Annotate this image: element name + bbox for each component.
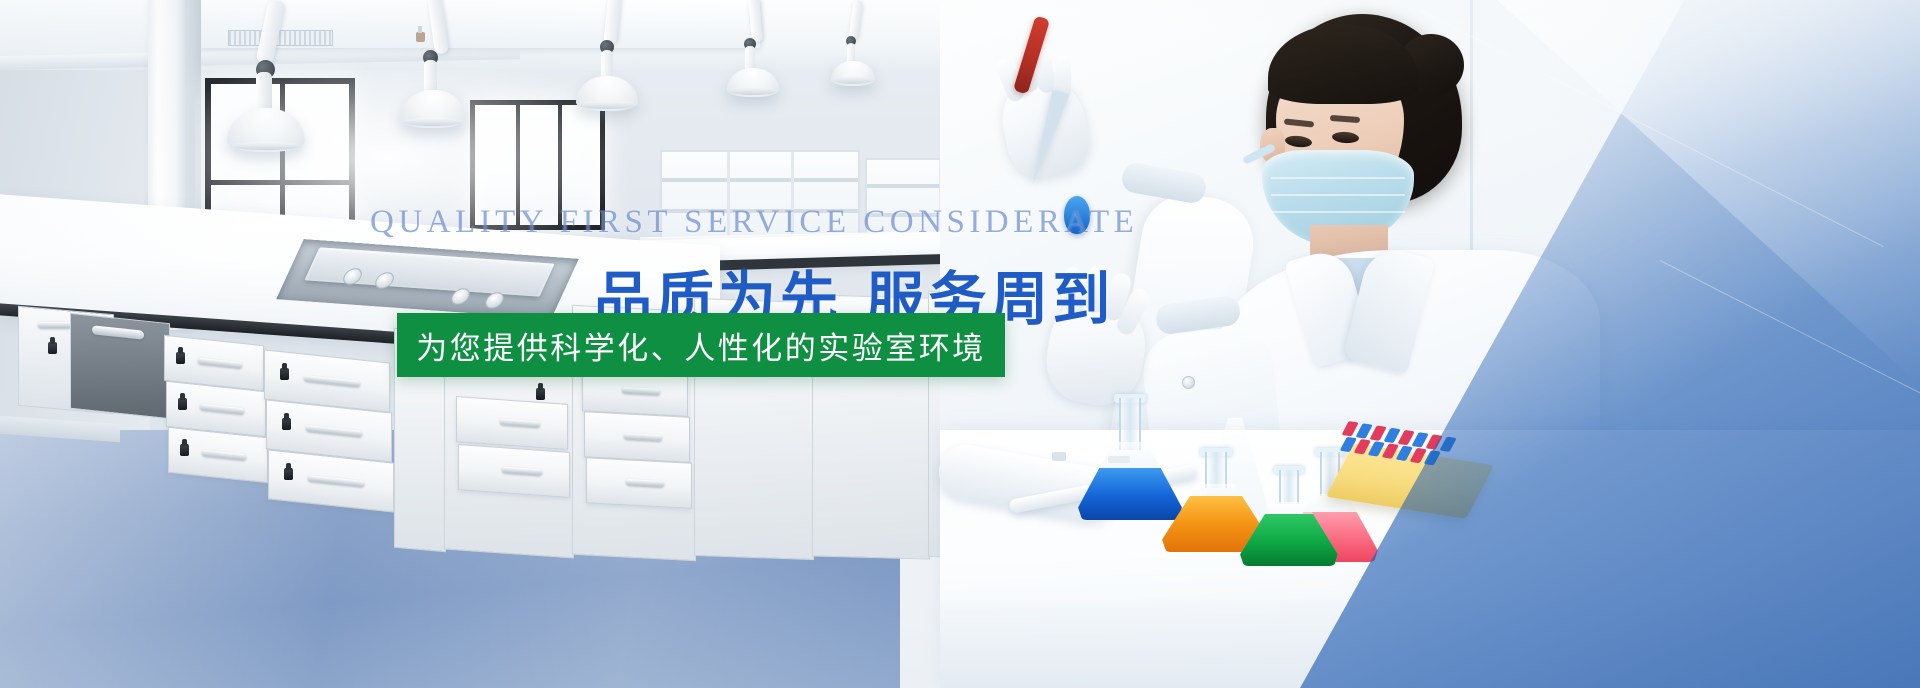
drawer-lock-icon — [280, 368, 289, 380]
sprinkler-icon — [416, 32, 425, 42]
drawer-lock-icon — [180, 444, 189, 456]
coat-button — [1182, 376, 1195, 389]
cabinet-lock-icon — [536, 388, 545, 400]
desk-small-item — [1052, 452, 1066, 461]
subheadline-chinese: 为您提供科学化、人性化的实验室环境 — [416, 323, 986, 368]
cabinet-handle — [38, 322, 72, 328]
desk-front-edge — [940, 600, 1920, 688]
ceiling-vent-icon — [228, 30, 333, 46]
flask-green — [1240, 470, 1338, 566]
drawer-lock-icon — [178, 398, 187, 410]
cabinet-lock-icon — [48, 342, 57, 354]
hero-banner: QUALITY FIRST SERVICE CONSIDERATE 品质为先 服… — [0, 0, 1920, 688]
english-tagline: QUALITY FIRST SERVICE CONSIDERATE — [370, 204, 1138, 241]
drawer-lock-icon — [176, 352, 185, 364]
subheadline-banner: 为您提供科学化、人性化的实验室环境 — [397, 313, 1005, 377]
drawer-lock-icon — [284, 468, 293, 480]
drawer-lock-icon — [282, 418, 291, 430]
